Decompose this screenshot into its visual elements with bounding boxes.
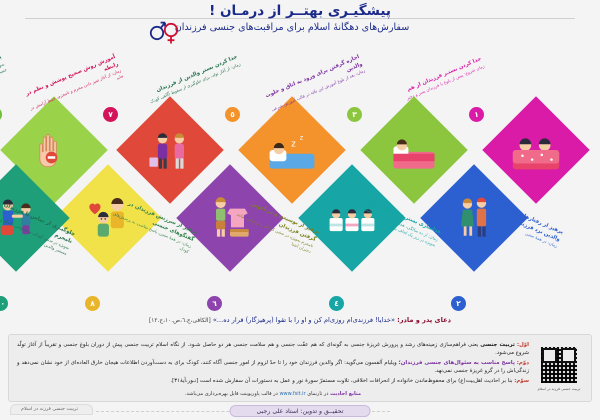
item-1-number-badge: ١ xyxy=(469,107,484,122)
paragraph-2-highlight: پاسخ مناسب به سئوال‌های جنسی فرزندان؛ xyxy=(399,360,515,366)
item-3-title: اجازه گرفتن برای ورود به اتاق و خلوت وال… xyxy=(262,54,364,109)
hadith-label: دعای پدر و مادر: xyxy=(397,316,451,324)
item-6-number-badge: ٦ xyxy=(207,296,222,311)
page-subtitle: سفارش‌های دهگانهٔ اسلام برای مراقبت‌های … xyxy=(0,22,600,33)
item-8-number-badge: ٨ xyxy=(85,296,100,311)
item-4-number-badge: ٤ xyxy=(329,296,344,311)
item-9-number-badge: ٩ xyxy=(0,107,2,122)
svg-text:z: z xyxy=(300,134,304,142)
item-9-desc: به‌ویژه در سنین کودکی، آموزش لمس کودکان … xyxy=(0,61,8,111)
paragraph-3-text: بنا بر احادیث اهل‌بیت(ع) برای محفوظ‌ماند… xyxy=(170,378,512,384)
item-3-number-badge: ٣ xyxy=(347,107,362,122)
page-footer: تربیت جنسی فرزند در اسلام تحقیــق و تدوی… xyxy=(0,404,600,420)
paragraph-1-highlight: تربیت جنسی xyxy=(480,342,515,348)
qr-caption: تربیت جنسی فرزند در اسلام xyxy=(535,387,583,391)
item-1-caption: جدا کردن بستـر فرزندان از هم زمان شروع: … xyxy=(384,56,485,109)
paragraph-2: دوّم: پاسخ مناسب به سئوال‌های جنسی فرزند… xyxy=(17,359,529,375)
item-10-number-badge: ١٠ xyxy=(0,296,8,311)
item-7-number-badge: ٧ xyxy=(103,107,118,122)
qr-code[interactable] xyxy=(539,345,579,385)
paragraph-2-lead: دوّم: xyxy=(517,360,529,366)
paragraph-3: سوّم: بنا بر احادیث اهل‌بیت(ع) برای محفو… xyxy=(17,377,529,385)
paragraph-1: اوّل: تربیت جنسی یعنی فراهم‌سازی زمینه‌ه… xyxy=(17,341,529,357)
item-1-title: جدا کردن بستـر فرزندان از هم xyxy=(384,56,483,104)
source-label: منابع احادیث xyxy=(330,391,361,397)
male-female-symbol-icon xyxy=(148,19,182,45)
infographic-page: پیشگیـری بهتــر از درمـان ! سفارش‌های ده… xyxy=(0,0,600,420)
item-5-caption: جدا کردن بستر والدین از فرزندان زمان: از… xyxy=(140,54,241,107)
item-1-illustration xyxy=(499,113,573,187)
paragraph-1-text: یعنی فراهم‌سازی زمینه‌های رشد و پرورش غر… xyxy=(17,342,529,356)
item-9-caption: پرهیز از دست زدن به بدن فرزندان به‌ویژه … xyxy=(0,54,8,111)
source-line: منابع احادیث در تارنمای www.fsit.ir در ق… xyxy=(17,391,529,397)
item-2-number-badge: ٢ xyxy=(451,296,466,311)
paragraph-1-lead: اوّل: xyxy=(517,342,529,348)
author-credit: تحقیــق و تدوین: استاد علی رجبی xyxy=(230,405,371,417)
item-5-illustration: z z xyxy=(255,113,329,187)
hadith-source: [الکافی،ج.٦،ص.١٠،ح.١٢] xyxy=(149,318,211,324)
item-3-illustration xyxy=(377,113,451,187)
hadith-text: «خدایا! فرزندی‌ام روزی‌ام کن و او را با … xyxy=(213,316,395,324)
page-title: پیشگیـری بهتــر از درمـان ! xyxy=(0,3,600,19)
hadith-strip: دعای پدر و مادر: «خدایا! فرزندی‌ام روزی‌… xyxy=(0,316,600,324)
page-header: پیشگیـری بهتــر از درمـان ! سفارش‌های ده… xyxy=(0,0,600,46)
item-3-caption: اجازه گرفتن برای ورود به اتاق و خلوت وال… xyxy=(262,54,366,114)
source-tail: در قالب پاورپوینت قابل بهره‌برداری می‌با… xyxy=(185,391,278,397)
diamond-item-1[interactable] xyxy=(482,96,589,203)
svg-text:z: z xyxy=(291,138,296,148)
source-url[interactable]: www.fsit.ir xyxy=(279,391,305,397)
source-text: در تارنمای xyxy=(307,391,328,397)
item-5-number-badge: ٥ xyxy=(225,107,240,122)
info-card: تربیت جنسی فرزند در اسلام اوّل: تربیت جن… xyxy=(8,334,592,402)
item-1-desc: زمان شروع: پیش از بلوغ با فرزندان پسر و … xyxy=(387,63,485,109)
diamond-board: ١ جدا کردن بستـر فرزندان از هم زمان شروع… xyxy=(0,46,600,314)
item-5-desc: زمان: از آغاز تولد، برای جلوگیری از سقوط… xyxy=(143,61,241,107)
item-5-title: جدا کردن بستر والدین از فرزندان xyxy=(140,54,239,102)
item-7-illustration xyxy=(133,113,207,187)
footer-tab[interactable]: تربیت جنسی فرزند در اسلام xyxy=(10,404,93,415)
paragraph-3-lead: سوّم: xyxy=(514,378,529,384)
